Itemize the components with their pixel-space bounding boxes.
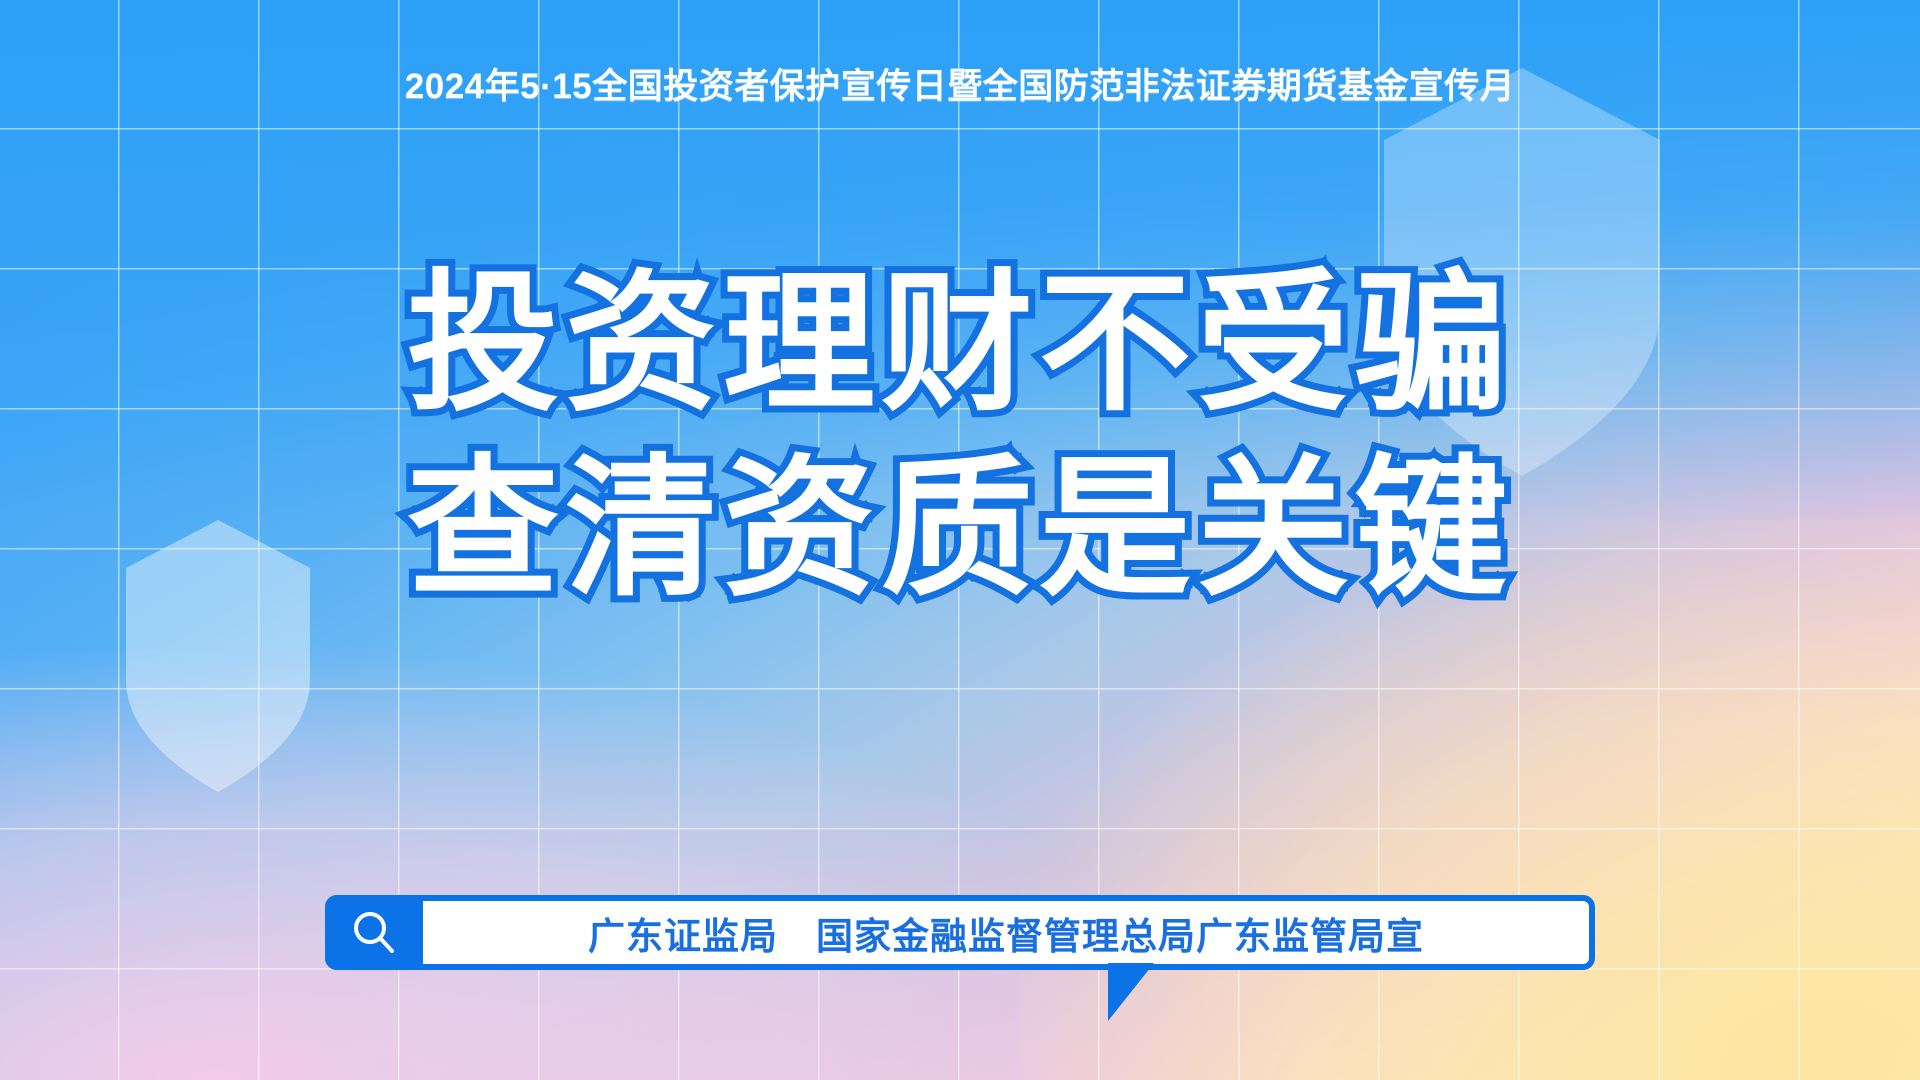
campaign-header-title: 2024年5·15全国投资者保护宣传日暨全国防范非法证券期货基金宣传月 (0, 58, 1920, 109)
background-pink-tint (0, 650, 1180, 1080)
credit-text: 广东证监局 国家金融监督管理总局广东监管局宣 (331, 906, 1589, 960)
search-icon (348, 907, 400, 959)
speech-bubble-tail (1108, 963, 1154, 1021)
credit-bar: 广东证监局 国家金融监督管理总局广东监管局宣 (325, 895, 1595, 970)
headline-line-1: 投资理财不受骗 (0, 252, 1920, 437)
credit-bar-container: 广东证监局 国家金融监督管理总局广东监管局宣 (325, 895, 1595, 970)
headline-block: 投资理财不受骗 查清资质是关键 (0, 252, 1920, 623)
poster-canvas: 2024年5·15全国投资者保护宣传日暨全国防范非法证券期货基金宣传月 投资理财… (0, 0, 1920, 1080)
search-icon-box[interactable] (325, 895, 423, 970)
headline-line-2: 查清资质是关键 (0, 437, 1920, 622)
